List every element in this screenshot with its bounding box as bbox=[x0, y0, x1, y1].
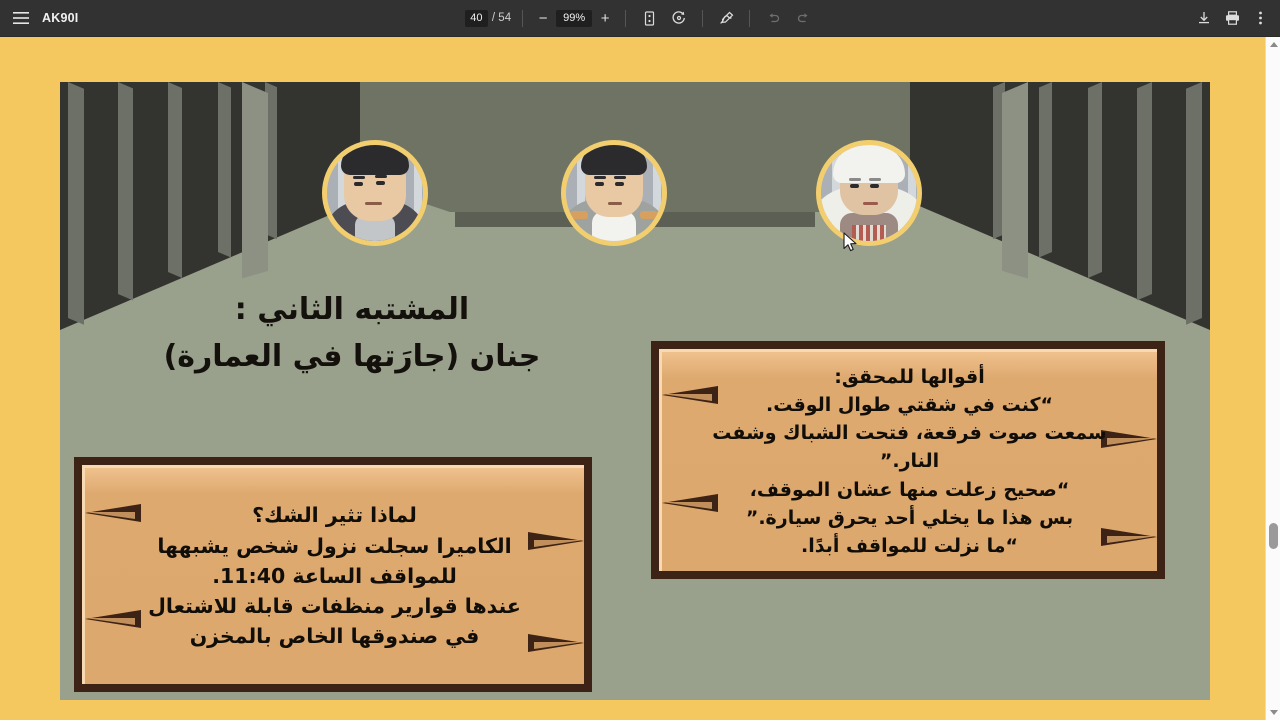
fit-page-icon[interactable] bbox=[637, 6, 661, 30]
prison-bar bbox=[68, 82, 84, 325]
portrait-suspect-elderly-woman[interactable] bbox=[816, 140, 922, 246]
slide-title-line-2: جنان (جارَتها في العمارة) bbox=[142, 334, 562, 381]
evidence-panel-left: لماذا تثير الشك؟ الكاميرا سجلت نزول شخص … bbox=[74, 457, 592, 692]
panel-right-line-5: بس هذا ما يخلي أحد يحرق سيارة.” bbox=[684, 504, 1135, 532]
portrait-figure bbox=[327, 145, 423, 241]
slide-title-line-1: المشتبه الثاني : bbox=[142, 287, 562, 334]
page-number-input[interactable] bbox=[465, 10, 488, 27]
portrait-figure bbox=[821, 145, 917, 241]
panel-right-line-3: سمعت صوت فرقعة، فتحت الشباك وشفت النار.” bbox=[684, 419, 1135, 475]
rotate-clockwise-icon[interactable] bbox=[667, 6, 691, 30]
prison-bar bbox=[1039, 82, 1052, 258]
toolbar-divider bbox=[702, 10, 703, 27]
redo-icon[interactable] bbox=[791, 6, 815, 30]
scrollbar-thumb[interactable] bbox=[1269, 523, 1278, 549]
toolbar-center-group: / 54 − 99% + bbox=[0, 6, 1280, 30]
panel-left-text: لماذا تثير الشك؟ الكاميرا سجلت نزول شخص … bbox=[126, 496, 543, 656]
panel-inner-surface: لماذا تثير الشك؟ الكاميرا سجلت نزول شخص … bbox=[82, 465, 584, 684]
zoom-out-button[interactable]: − bbox=[534, 9, 552, 27]
prison-bar bbox=[118, 82, 133, 300]
slide-title: المشتبه الثاني : جنان (جارَتها في العمار… bbox=[142, 287, 562, 380]
page-total-label: / 54 bbox=[492, 12, 511, 24]
panel-right-text: أقوالها للمحقق: “كنت في شقتي طوال الوقت.… bbox=[662, 359, 1157, 564]
vertical-scrollbar[interactable] bbox=[1265, 37, 1280, 720]
pdf-viewer-toolbar: AK90I / 54 − 99% + bbox=[0, 0, 1280, 37]
evidence-panel-right: أقوالها للمحقق: “كنت في شقتي طوال الوقت.… bbox=[651, 341, 1165, 579]
portrait-suspect-man[interactable] bbox=[322, 140, 428, 246]
prison-bar bbox=[1186, 82, 1202, 325]
toolbar-left-group: AK90I bbox=[0, 7, 78, 29]
undo-icon[interactable] bbox=[761, 6, 785, 30]
prison-bar bbox=[1088, 82, 1102, 278]
download-icon[interactable] bbox=[1192, 6, 1216, 30]
panel-left-line-3: للمواقف الساعة 11:40. bbox=[148, 561, 521, 591]
prison-bar bbox=[168, 82, 182, 278]
pdf-viewer-area[interactable]: المشتبه الثاني : جنان (جارَتها في العمار… bbox=[0, 37, 1280, 720]
panel-right-line-2: “كنت في شقتي طوال الوقت. bbox=[684, 391, 1135, 419]
more-options-icon[interactable] bbox=[1248, 6, 1272, 30]
slide-page-40: المشتبه الثاني : جنان (جارَتها في العمار… bbox=[60, 82, 1210, 700]
portrait-figure bbox=[566, 145, 662, 241]
portrait-suspect-young[interactable] bbox=[561, 140, 667, 246]
panel-inner-surface: أقوالها للمحقق: “كنت في شقتي طوال الوقت.… bbox=[659, 349, 1157, 571]
panel-left-line-1: لماذا تثير الشك؟ bbox=[148, 500, 521, 530]
zoom-in-button[interactable]: + bbox=[596, 9, 614, 27]
panel-left-line-4: عندها قوارير منظفات قابلة للاشتعال bbox=[148, 591, 521, 621]
panel-left-line-5: في صندوقها الخاص بالمخزن bbox=[148, 621, 521, 651]
zoom-level-value[interactable]: 99% bbox=[556, 10, 592, 27]
scroll-down-arrow-icon[interactable] bbox=[1266, 705, 1280, 720]
hamburger-menu-icon[interactable] bbox=[10, 7, 32, 29]
prison-bar bbox=[1137, 82, 1152, 300]
zoom-controls-group: − 99% + bbox=[534, 9, 614, 27]
panel-right-line-6: “ما نزلت للمواقف أبدًا. bbox=[684, 532, 1135, 560]
panel-right-line-4: “صحيح زعلت منها عشان الموقف، bbox=[684, 476, 1135, 504]
toolbar-divider bbox=[625, 10, 626, 27]
prison-bar bbox=[218, 82, 231, 258]
toolbar-divider bbox=[749, 10, 750, 27]
toolbar-divider bbox=[522, 10, 523, 27]
annotate-pen-icon[interactable] bbox=[714, 6, 738, 30]
document-title: AK90I bbox=[42, 11, 78, 25]
scroll-up-arrow-icon[interactable] bbox=[1266, 37, 1280, 52]
toolbar-right-group bbox=[1192, 6, 1272, 30]
panel-left-line-2: الكاميرا سجلت نزول شخص يشبهها bbox=[148, 531, 521, 561]
panel-right-line-1: أقوالها للمحقق: bbox=[684, 363, 1135, 391]
page-navigation-group: / 54 bbox=[465, 10, 511, 27]
print-icon[interactable] bbox=[1220, 6, 1244, 30]
